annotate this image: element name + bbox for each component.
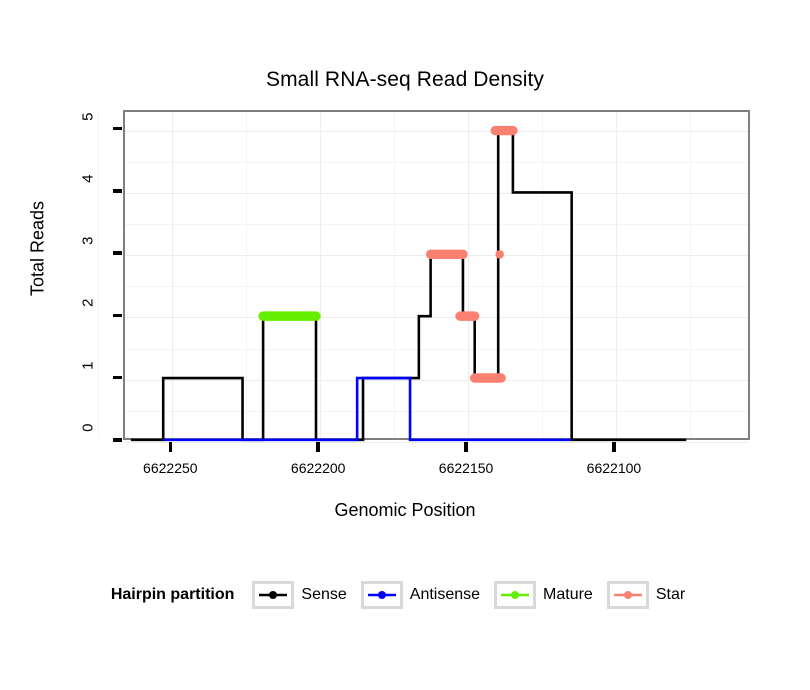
x-tick-mark (464, 442, 468, 452)
x-axis-title: Genomic Position (0, 500, 810, 521)
x-tick-label: 6622100 (554, 460, 674, 476)
legend-key-star-icon (607, 581, 649, 609)
chart-canvas: Small RNA-seq Read Density Total Reads G… (0, 0, 810, 690)
data-layer (125, 112, 748, 440)
y-tick-mark (113, 314, 122, 318)
legend-label: Sense (301, 586, 346, 604)
legend: Hairpin partition SenseAntisenseMatureSt… (0, 578, 810, 612)
legend-entry-mature[interactable]: Mature (494, 581, 593, 609)
gridline-v-minor (98, 112, 99, 438)
chart-title: Small RNA-seq Read Density (0, 68, 810, 92)
legend-label: Antisense (410, 586, 480, 604)
x-tick-label: 6622250 (110, 460, 230, 476)
y-tick-label: 1 (80, 361, 97, 391)
y-tick-mark (113, 251, 122, 255)
y-tick-label: 2 (80, 299, 97, 329)
y-tick-mark (113, 438, 122, 442)
y-tick-label: 3 (80, 237, 97, 267)
legend-label: Mature (543, 586, 593, 604)
y-tick-label: 4 (80, 174, 97, 204)
y-axis-title: Total Reads (28, 149, 49, 349)
x-tick-mark (169, 442, 173, 452)
series-line-antisense (163, 378, 571, 440)
legend-entry-star[interactable]: Star (607, 581, 685, 609)
y-tick-label: 0 (80, 424, 97, 454)
x-tick-mark (612, 442, 616, 452)
legend-key-antisense-icon (361, 581, 403, 609)
legend-key-sense-icon (252, 581, 294, 609)
x-tick-mark (316, 442, 320, 452)
gridline-h (125, 442, 748, 443)
legend-key-mature-icon (494, 581, 536, 609)
y-tick-mark (113, 127, 122, 131)
legend-entry-antisense[interactable]: Antisense (361, 581, 480, 609)
series-line-sense (131, 131, 686, 440)
legend-entry-sense[interactable]: Sense (252, 581, 346, 609)
x-tick-label: 6622200 (258, 460, 378, 476)
y-tick-mark (113, 189, 122, 193)
annotation-point-star (495, 250, 504, 259)
legend-label: Star (656, 586, 685, 604)
legend-title: Hairpin partition (111, 586, 235, 604)
y-tick-mark (113, 376, 122, 380)
y-tick-label: 5 (80, 112, 97, 142)
plot-panel (123, 110, 750, 440)
x-tick-label: 6622150 (406, 460, 526, 476)
